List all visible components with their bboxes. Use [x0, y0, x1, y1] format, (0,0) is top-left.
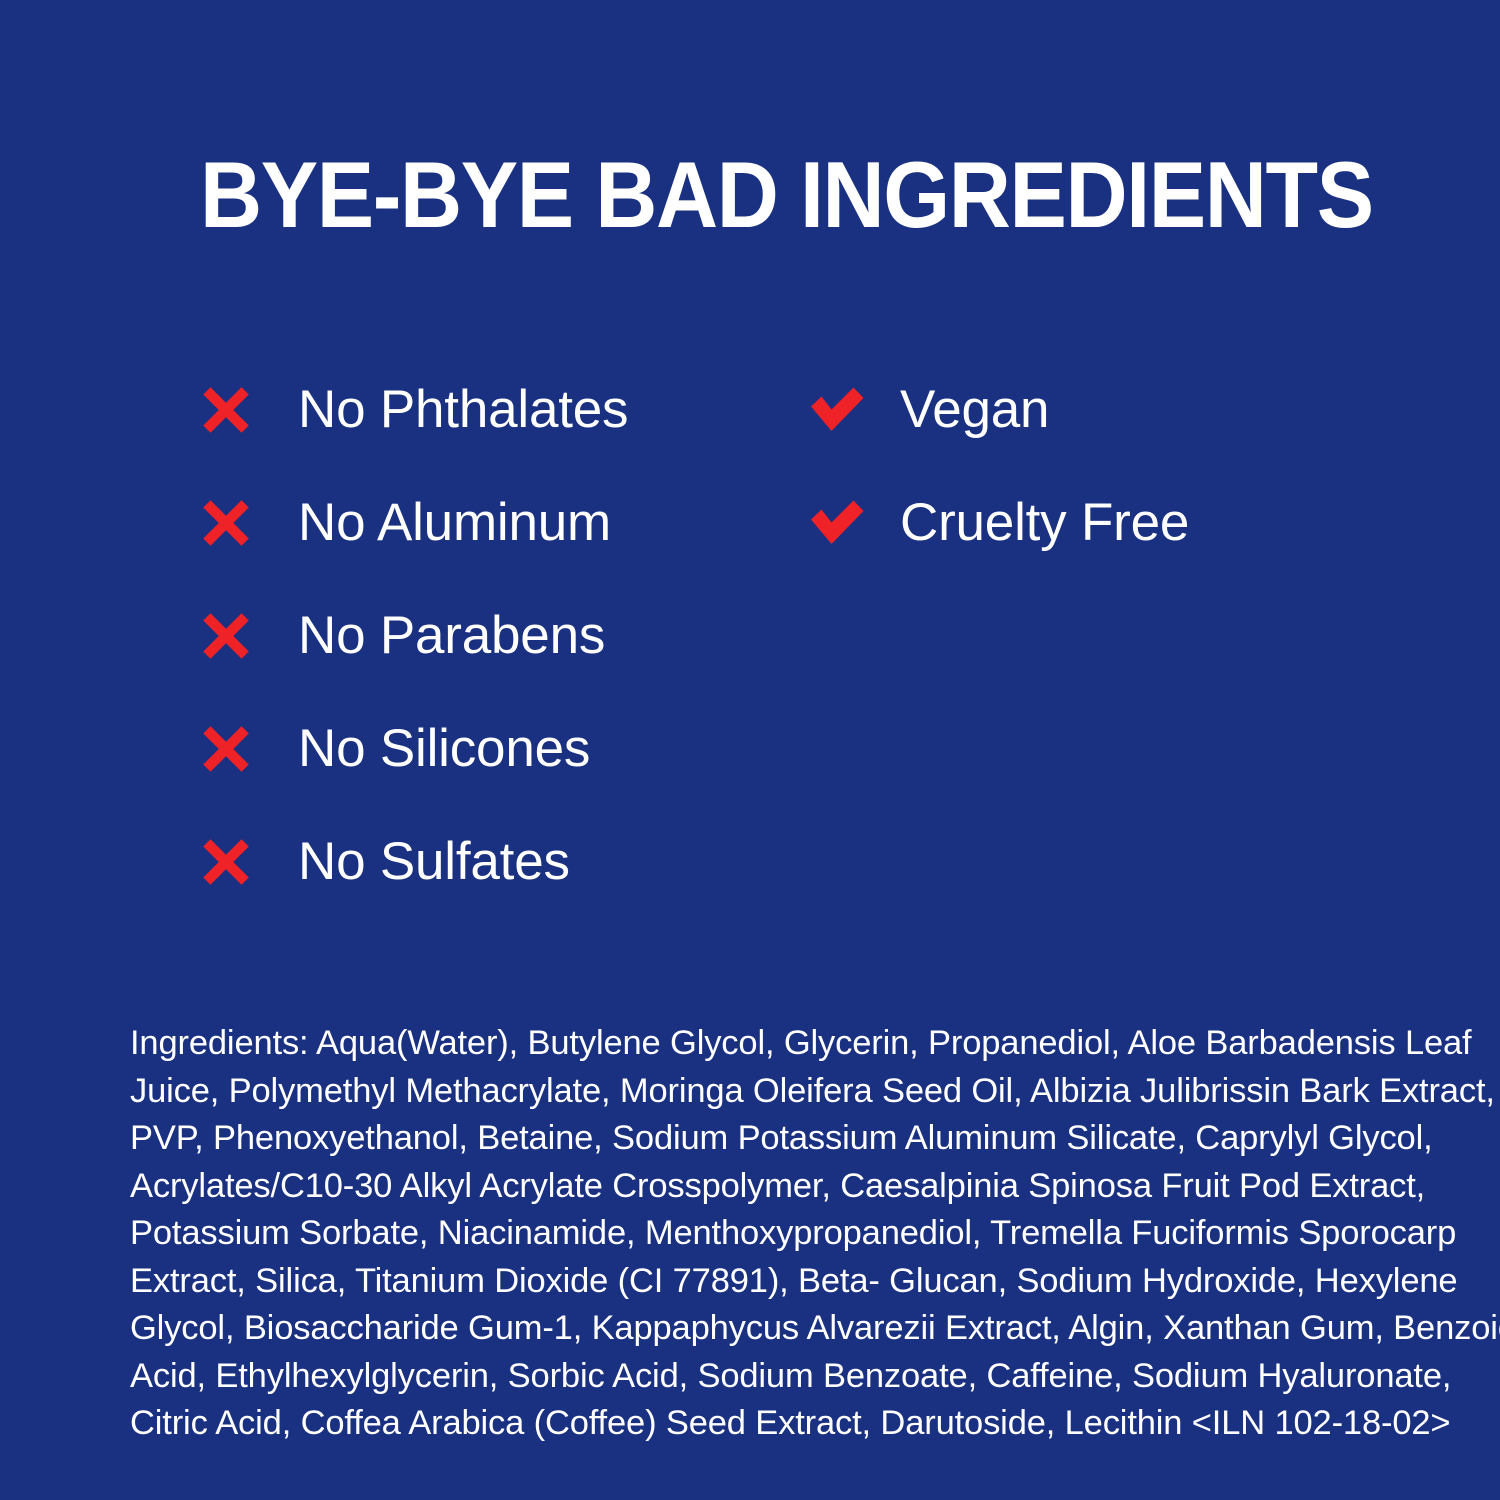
ingredients-line: Extract, Silica, Titanium Dioxide (CI 77… [130, 1258, 1376, 1306]
ingredients-paragraph: Ingredients: Aqua(Water), Butylene Glyco… [130, 1020, 1376, 1448]
ingredients-line: Citric Acid, Coffea Arabica (Coffee) See… [130, 1400, 1376, 1448]
page-title: BYE-BYE BAD INGREDIENTS [200, 148, 1340, 243]
list-item: No Phthalates [200, 372, 760, 448]
certified-list: Vegan Cruelty Free [808, 372, 1368, 598]
ingredients-line: Acid, Ethylhexylglycerin, Sorbic Acid, S… [130, 1353, 1376, 1401]
list-item: Cruelty Free [808, 485, 1368, 561]
list-item: No Parabens [200, 598, 760, 674]
red-x-icon [200, 606, 260, 666]
red-check-icon [808, 493, 868, 553]
ingredients-line: Ingredients: Aqua(Water), Butylene Glyco… [130, 1020, 1376, 1068]
ingredients-line: Juice, Polymethyl Methacrylate, Moringa … [130, 1068, 1376, 1116]
list-item-label: Vegan [900, 380, 1049, 440]
list-item-label: No Parabens [298, 606, 605, 666]
red-check-icon [808, 380, 868, 440]
free-from-list: No Phthalates No Aluminum No Parabens [200, 372, 760, 937]
ingredients-line: Acrylates/C10-30 Alkyl Acrylate Crosspol… [130, 1163, 1376, 1211]
ingredients-claims-panel: BYE-BYE BAD INGREDIENTS No Phthalates No… [0, 0, 1500, 1500]
list-item: No Sulfates [200, 824, 760, 900]
list-item-label: No Sulfates [298, 832, 570, 892]
list-item: No Aluminum [200, 485, 760, 561]
red-x-icon [200, 380, 260, 440]
list-item: Vegan [808, 372, 1368, 448]
ingredients-line: PVP, Phenoxyethanol, Betaine, Sodium Pot… [130, 1115, 1376, 1163]
red-x-icon [200, 832, 260, 892]
list-item-label: Cruelty Free [900, 493, 1189, 553]
list-item-label: No Phthalates [298, 380, 628, 440]
list-item: No Silicones [200, 711, 760, 787]
red-x-icon [200, 719, 260, 779]
red-x-icon [200, 493, 260, 553]
list-item-label: No Aluminum [298, 493, 611, 553]
ingredients-line: Glycol, Biosaccharide Gum-1, Kappaphycus… [130, 1305, 1376, 1353]
page-title-text: BYE-BYE BAD INGREDIENTS [200, 148, 1373, 242]
list-item-label: No Silicones [298, 719, 590, 779]
ingredients-line: Potassium Sorbate, Niacinamide, Menthoxy… [130, 1210, 1376, 1258]
